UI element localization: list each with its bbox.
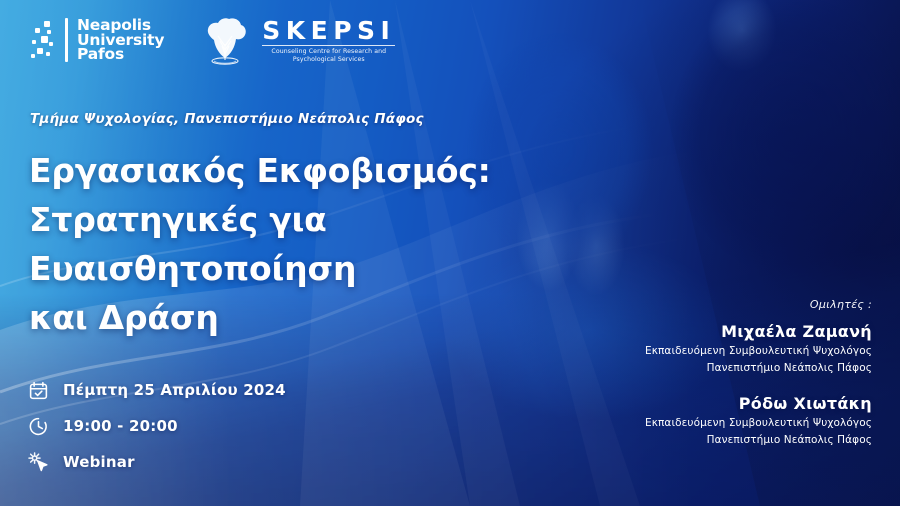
speakers-label: Ομιλητές : — [645, 298, 872, 311]
calendar-check-icon — [26, 378, 50, 402]
speaker-item: Ρόδω Χιωτάκη Εκπαιδευόμενη Συμβουλευτική… — [645, 393, 872, 449]
skepsi-logo: SKEPSI Counseling Centre for Research an… — [198, 14, 395, 66]
speakers-block: Ομιλητές : Μιχαέλα Ζαμανή Εκπαιδευόμενη … — [645, 298, 872, 449]
poster-content: Neapolis University Pafos — [0, 0, 900, 506]
speaker-item: Μιχαέλα Ζαμανή Εκπαιδευόμενη Συμβουλευτι… — [645, 321, 872, 377]
event-poster: Neapolis University Pafos — [0, 0, 900, 506]
speaker-name: Ρόδω Χιωτάκη — [645, 393, 872, 415]
neapolis-logo-bar — [65, 18, 68, 62]
event-time-label: 19:00 - 20:00 — [63, 417, 178, 435]
event-details-list: Πέμπτη 25 Απριλίου 2024 19:00 - 20:00 — [26, 372, 286, 480]
neapolis-logo-line-3: Pafos — [77, 47, 164, 62]
neapolis-university-logo: Neapolis University Pafos — [30, 18, 164, 62]
event-title-line-4: και Δράση — [29, 293, 491, 342]
skepsi-divider — [262, 45, 395, 46]
event-date-row: Πέμπτη 25 Απριλίου 2024 — [26, 372, 286, 408]
logo-row: Neapolis University Pafos — [30, 14, 395, 66]
department-line: Τμήμα Ψυχολογίας, Πανεπιστήμιο Νεάπολις … — [30, 111, 424, 127]
event-format-row: Webinar — [26, 444, 286, 480]
skepsi-tagline-line-2: Psychological Services — [262, 56, 395, 64]
skepsi-tagline: Counseling Centre for Research and Psych… — [262, 48, 395, 64]
neapolis-pixel-dots-icon — [30, 19, 58, 61]
event-title: Εργασιακός Εκφοβισμός: Στρατηγικές για Ε… — [29, 146, 491, 342]
speaker-role: Εκπαιδευόμενη Συμβουλευτική Ψυχολόγος — [645, 343, 872, 360]
neapolis-logo-text: Neapolis University Pafos — [75, 18, 164, 62]
speaker-name: Μιχαέλα Ζαμανή — [645, 321, 872, 343]
speaker-org: Πανεπιστήμιο Νεάπολις Πάφος — [645, 360, 872, 377]
event-date-label: Πέμπτη 25 Απριλίου 2024 — [63, 381, 286, 399]
clock-icon — [26, 414, 50, 438]
event-title-line-1: Εργασιακός Εκφοβισμός: — [29, 146, 491, 195]
event-format-label: Webinar — [63, 453, 135, 471]
skepsi-text-block: SKEPSI Counseling Centre for Research an… — [262, 17, 395, 64]
speaker-org: Πανεπιστήμιο Νεάπολις Πάφος — [645, 432, 872, 449]
event-time-row: 19:00 - 20:00 — [26, 408, 286, 444]
skepsi-tagline-line-1: Counseling Centre for Research and — [262, 48, 395, 56]
click-cursor-icon — [26, 450, 50, 474]
skepsi-tree-icon — [198, 14, 252, 66]
event-title-line-2: Στρατηγικές για — [29, 195, 491, 244]
speaker-role: Εκπαιδευόμενη Συμβουλευτική Ψυχολόγος — [645, 415, 872, 432]
event-title-line-3: Ευαισθητοποίηση — [29, 244, 491, 293]
skepsi-name: SKEPSI — [262, 17, 395, 44]
